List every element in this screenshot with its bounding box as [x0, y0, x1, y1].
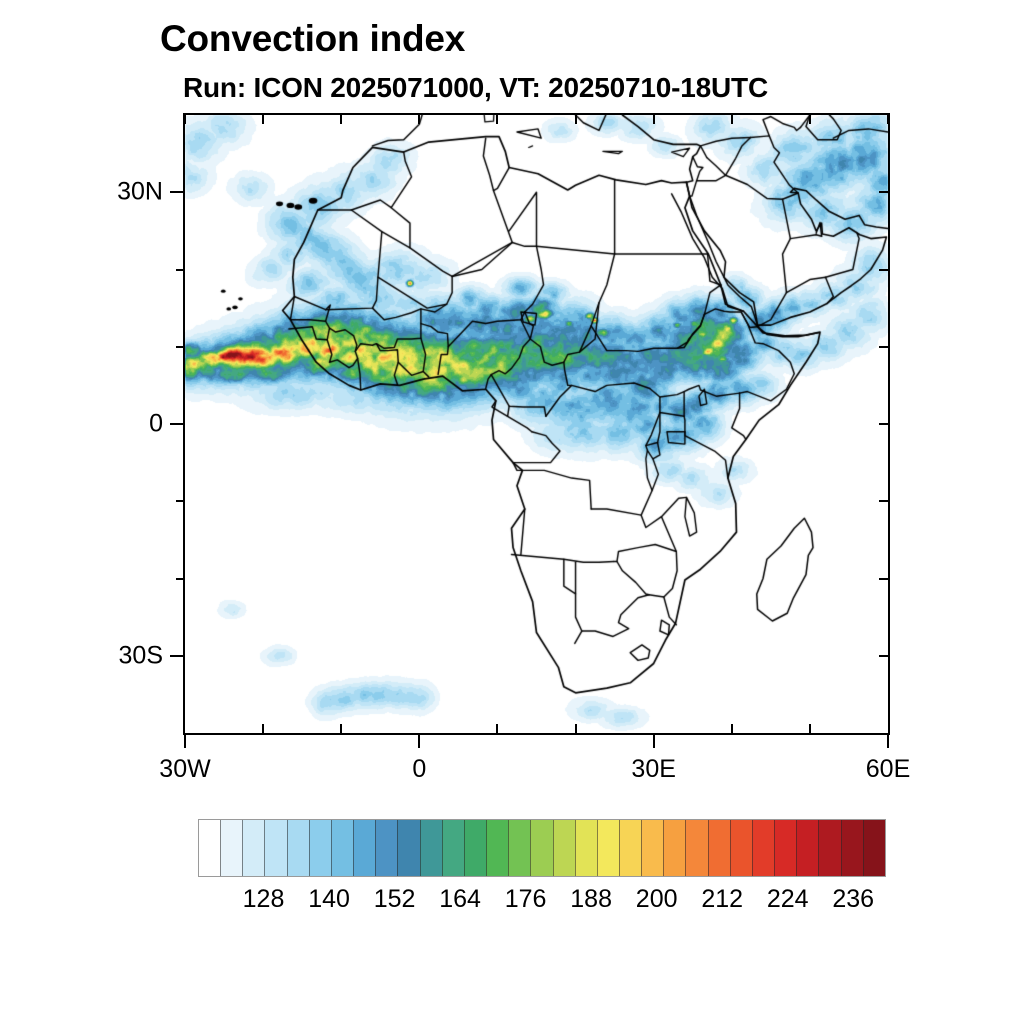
colorbar-cell: [242, 820, 264, 876]
x-tick-major-top: [418, 115, 420, 124]
y-tick-major: [170, 655, 185, 657]
y-tick-major: [170, 423, 185, 425]
colorbar-tick-label: 212: [701, 885, 743, 914]
colorbar-cell: [464, 820, 486, 876]
colorbar-tick-label: 128: [243, 885, 285, 914]
colorbar-cell: [796, 820, 818, 876]
x-tick-minor-top: [809, 115, 811, 124]
colorbar-cell: [508, 820, 530, 876]
x-tick-minor: [809, 724, 811, 733]
colorbar-cell: [685, 820, 707, 876]
x-tick-minor-top: [731, 115, 733, 124]
colorbar-cell: [597, 820, 619, 876]
colorbar-cell: [486, 820, 508, 876]
x-axis-label: 60E: [866, 755, 910, 784]
colorbar-cell: [641, 820, 663, 876]
colorbar-cell: [199, 820, 220, 876]
colorbar-tick-label: 200: [636, 885, 678, 914]
colorbar-cell: [397, 820, 419, 876]
colorbar-cell: [663, 820, 685, 876]
map-plot-area: [183, 113, 890, 735]
colorbar-cell: [708, 820, 730, 876]
x-tick-major: [418, 733, 420, 748]
y-tick-minor-right: [879, 578, 888, 580]
colorbar-cell: [420, 820, 442, 876]
y-tick-minor-right: [879, 346, 888, 348]
colorbar-cell: [619, 820, 641, 876]
x-tick-minor: [496, 724, 498, 733]
y-tick-minor: [176, 500, 185, 502]
y-axis-label: 30N: [117, 178, 163, 207]
y-tick-minor: [176, 578, 185, 580]
colorbar-cell: [375, 820, 397, 876]
x-tick-major: [653, 733, 655, 748]
x-tick-minor: [262, 724, 264, 733]
colorbar-cell: [818, 820, 840, 876]
colorbar-cell: [530, 820, 552, 876]
colorbar-tick-label: 140: [308, 885, 350, 914]
x-tick-major-top: [653, 115, 655, 124]
y-axis-label: 30S: [119, 641, 163, 670]
x-tick-minor: [340, 724, 342, 733]
y-tick-major-right: [879, 423, 888, 425]
colorbar-tick-label: 188: [570, 885, 612, 914]
x-axis-label: 0: [412, 755, 426, 784]
x-tick-minor-top: [340, 115, 342, 124]
colorbar-cell: [730, 820, 752, 876]
colorbar-cell: [553, 820, 575, 876]
colorbar-tick-label: 152: [374, 885, 416, 914]
x-tick-major: [184, 733, 186, 748]
x-tick-major-top: [887, 115, 889, 124]
colorbar-cell: [220, 820, 242, 876]
x-tick-minor: [731, 724, 733, 733]
colorbar-cell: [575, 820, 597, 876]
y-tick-major-right: [879, 191, 888, 193]
y-tick-major: [170, 191, 185, 193]
colorbar: [198, 819, 886, 877]
x-tick-major-top: [184, 115, 186, 124]
colorbar-cell: [774, 820, 796, 876]
x-tick-minor-top: [262, 115, 264, 124]
x-tick-minor-top: [496, 115, 498, 124]
colorbar-tick-label: 176: [505, 885, 547, 914]
y-tick-minor-right: [879, 269, 888, 271]
y-axis-label: 0: [149, 410, 163, 439]
colorbar-cell: [264, 820, 286, 876]
page-title: Convection index: [160, 18, 465, 60]
colorbar-tick-label: 224: [767, 885, 809, 914]
colorbar-cell: [863, 820, 885, 876]
colorbar-cell: [353, 820, 375, 876]
x-axis-label: 30W: [159, 755, 210, 784]
colorbar-cell: [841, 820, 863, 876]
colorbar-cell: [331, 820, 353, 876]
y-tick-minor: [176, 269, 185, 271]
colorbar-cell: [752, 820, 774, 876]
colorbar-tick-label: 236: [832, 885, 874, 914]
y-tick-minor: [176, 346, 185, 348]
y-tick-minor-right: [879, 500, 888, 502]
x-tick-major: [887, 733, 889, 748]
colorbar-cell: [309, 820, 331, 876]
x-tick-minor: [575, 724, 577, 733]
x-axis-label: 30E: [631, 755, 675, 784]
colorbar-cell: [442, 820, 464, 876]
colorbar-tick-label: 164: [439, 885, 481, 914]
y-tick-major-right: [879, 655, 888, 657]
colorbar-cell: [287, 820, 309, 876]
convection-index-map: [185, 115, 888, 733]
convection-index-figure: Convection index Run: ICON 2025071000, V…: [0, 0, 1024, 1024]
page-subtitle: Run: ICON 2025071000, VT: 20250710-18UTC: [183, 72, 768, 104]
x-tick-minor-top: [575, 115, 577, 124]
